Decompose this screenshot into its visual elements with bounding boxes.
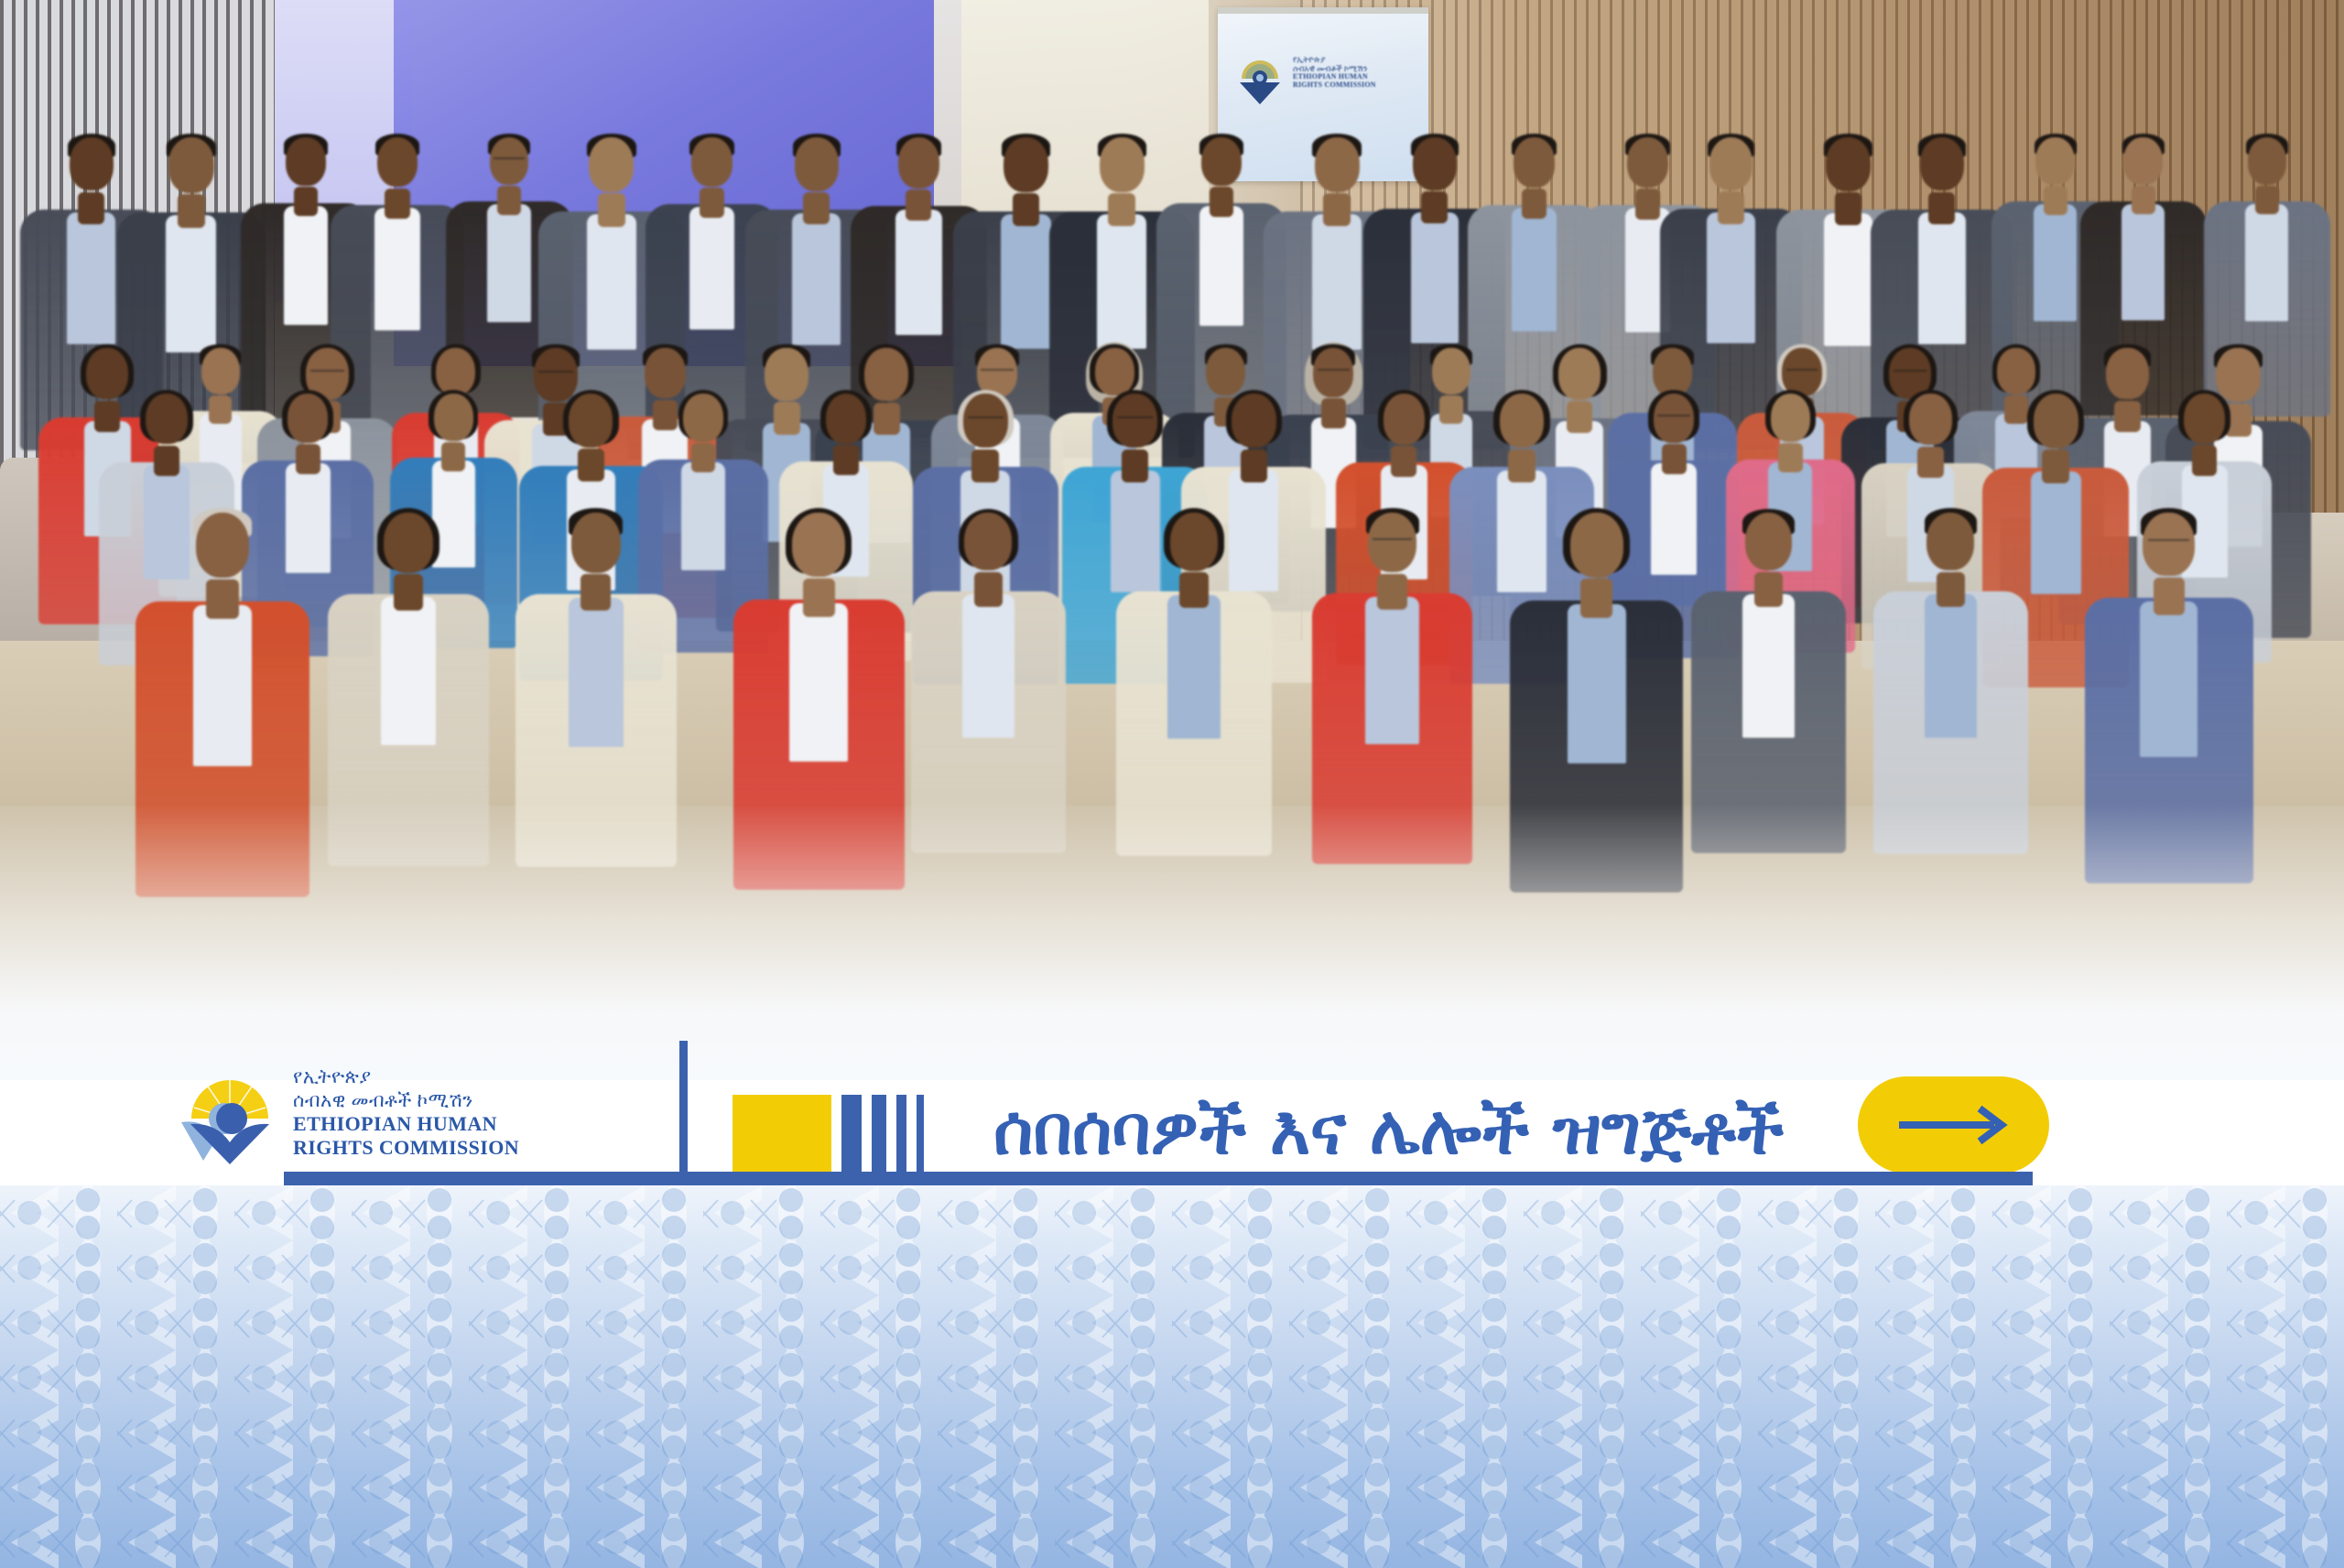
person-head (1201, 137, 1241, 186)
person-shirt (681, 462, 725, 571)
banner-title: ሰበሰባዎች እና ሌሎች ዝግጅቶች (993, 1080, 1799, 1181)
person-neck (1754, 572, 1784, 607)
person-shirt (1918, 212, 1967, 344)
person-neck (294, 187, 318, 216)
person-head (1826, 137, 1870, 191)
person-shirt (374, 208, 420, 331)
person-glasses (968, 416, 1004, 418)
person-neck (1210, 187, 1233, 216)
person-shirt (2034, 204, 2077, 321)
person-glasses (1117, 416, 1153, 418)
person-neck (1241, 449, 1268, 482)
logo-amharic-line-1: የኢትዮጵያ (293, 1065, 519, 1088)
person-neck (1917, 447, 1943, 478)
person-head (1745, 513, 1793, 570)
ehrc-sun-person-logo-icon (179, 1062, 280, 1164)
person-head (2123, 137, 2162, 185)
person-neck (1928, 192, 1955, 224)
person-head (1384, 394, 1426, 445)
person-head (288, 394, 328, 443)
yellow-block-mark (732, 1095, 831, 1172)
person-neck (1323, 193, 1351, 226)
person-neck (1508, 449, 1536, 482)
person-neck (2132, 186, 2155, 214)
person-shirt (166, 215, 216, 351)
person-head (1432, 348, 1470, 395)
person-neck (906, 189, 931, 221)
person-shirt (689, 207, 734, 330)
person-neck (1179, 572, 1209, 608)
person-shirt (1707, 212, 1755, 343)
person-head (2106, 348, 2148, 399)
blue-bar-mark-2 (872, 1095, 886, 1172)
person-neck (691, 443, 715, 472)
person-glasses (1318, 369, 1350, 371)
person-neck (803, 192, 830, 224)
person-neck (1377, 574, 1407, 611)
pattern-svg (0, 1185, 2344, 1568)
person-neck (497, 186, 521, 215)
person-head (683, 394, 722, 442)
person-shirt (962, 594, 1015, 737)
person-shirt (1167, 595, 1221, 739)
person-neck (394, 574, 424, 611)
person-shirt (1199, 206, 1243, 326)
person-head (792, 513, 844, 577)
person-glasses (1894, 370, 1927, 372)
person-neck (1835, 192, 1861, 225)
ehrc-logo-text: የኢትዮጵያ ሰብአዊ መብቶች ኮሚሽን ETHIOPIAN HUMAN RI… (293, 1065, 519, 1160)
person (1691, 513, 1846, 853)
person-head (1368, 513, 1416, 572)
person-shirt (792, 213, 841, 346)
photo-bottom-fade (0, 806, 2344, 1080)
person-shirt (789, 603, 848, 762)
person-head (1997, 348, 2035, 395)
logo-english-line-1: ETHIOPIAN HUMAN (293, 1112, 519, 1136)
person-shirt (2245, 204, 2288, 321)
logo-amharic-line-2: ሰብአዊ መብቶች ኮሚሽን (293, 1089, 519, 1112)
person-shirt (569, 598, 624, 747)
person-shirt (193, 605, 253, 766)
person-head (1771, 394, 1810, 442)
blue-bar-mark-3 (896, 1095, 906, 1172)
person-neck (1522, 189, 1546, 219)
person-neck (1580, 579, 1612, 618)
decorative-pattern-footer (0, 1185, 2344, 1568)
person-neck (178, 194, 205, 228)
person-head (1653, 348, 1692, 396)
person-shirt (1742, 594, 1796, 737)
person-head (2248, 137, 2286, 185)
decorative-marks (732, 1095, 924, 1172)
person-head (1909, 394, 1951, 445)
blue-bar-mark-4 (917, 1095, 924, 1172)
person-head (2143, 513, 2194, 576)
person-neck (1391, 446, 1416, 477)
person-head (1413, 137, 1457, 190)
person-head (196, 513, 249, 578)
person-shirt (284, 206, 328, 326)
person-head (2184, 394, 2225, 444)
person-head (645, 348, 686, 398)
person-head (1570, 513, 1623, 578)
person-shirt (1411, 212, 1460, 343)
person-head (963, 394, 1008, 448)
person-head (1654, 394, 1694, 443)
person-head (434, 394, 473, 441)
person-shirt (1097, 214, 1146, 349)
person-glasses (1373, 538, 1412, 540)
person-glasses (1657, 415, 1689, 416)
person (1116, 513, 1272, 856)
ehrc-logo-block: የኢትዮጵያ ሰብአዊ መብቶች ኮሚሽን ETHIOPIAN HUMAN RI… (179, 1062, 519, 1164)
person-neck (1662, 444, 1687, 474)
person-head (384, 513, 433, 573)
person-head (1313, 348, 1353, 397)
person-head (168, 137, 214, 193)
person-head (1100, 137, 1145, 192)
person-neck (1108, 193, 1135, 226)
person-neck (578, 449, 604, 481)
person-neck (2042, 449, 2069, 482)
person-head (1709, 137, 1753, 190)
person-neck (598, 193, 625, 226)
person-head (201, 348, 240, 395)
person-shirt (487, 204, 530, 322)
person (911, 513, 1066, 853)
person-head (1206, 348, 1245, 395)
person-neck (1122, 449, 1149, 482)
person-neck (1937, 572, 1966, 607)
person-neck (803, 579, 835, 617)
person-head (2035, 137, 2075, 185)
person-head (1095, 348, 1134, 395)
person-glasses (1786, 369, 1818, 371)
person-head (70, 137, 114, 190)
person-shirt (895, 210, 942, 336)
person-head (86, 348, 128, 399)
person-neck (581, 574, 611, 611)
person-neck (700, 188, 724, 218)
person-head (1500, 394, 1545, 448)
person-head (1315, 137, 1360, 192)
person-glasses (310, 370, 344, 372)
person-shirt (1925, 594, 1978, 738)
blue-bar-mark-1 (841, 1095, 862, 1172)
person-head (571, 513, 621, 573)
person-shirt (2031, 471, 2081, 595)
person-head (1170, 513, 1218, 571)
person-head (795, 137, 839, 191)
person-head (1514, 137, 1555, 188)
person-neck (1013, 193, 1040, 226)
person-neck (78, 192, 104, 224)
person-head (964, 513, 1012, 570)
person-shirt (1568, 604, 1626, 763)
person-shirt (1312, 214, 1362, 350)
person-glasses (538, 371, 573, 373)
person-neck (154, 446, 179, 477)
person (1873, 513, 2029, 854)
person-glasses (981, 369, 1013, 371)
person-head (569, 394, 613, 448)
arrow-right-button[interactable] (1858, 1076, 2049, 1173)
arrow-right-icon (1895, 1103, 2013, 1147)
person-neck (2255, 186, 2279, 214)
person-head (691, 137, 732, 187)
person-shirt (2122, 204, 2165, 321)
person-head (377, 137, 418, 187)
person-shirt (1824, 213, 1872, 346)
person-neck (1718, 191, 1744, 223)
person-glasses (494, 157, 525, 159)
person-shirt (1001, 214, 1050, 349)
person-head (146, 394, 187, 444)
group-photo: የኢትዮጵያ ሰብአዊ መብቶች ኮሚሽን ETHIOPIAN HUMAN RI… (0, 0, 2344, 1080)
person-head (589, 137, 634, 192)
person-shirt (381, 597, 436, 745)
person-shirt (2140, 601, 2197, 757)
person-head (1782, 348, 1821, 396)
person-neck (971, 449, 999, 482)
person-neck (385, 189, 409, 219)
person-head (436, 348, 475, 395)
person-head (1232, 394, 1276, 448)
person-neck (441, 442, 465, 470)
person-neck (974, 572, 1004, 607)
person-neck (1635, 189, 1660, 219)
person-shirt (67, 212, 115, 344)
person-neck (2044, 186, 2067, 214)
person-head (1920, 137, 1964, 190)
person-neck (1778, 443, 1802, 472)
person-head (1558, 348, 1601, 400)
person-shirt (1365, 597, 1419, 744)
person-head (1004, 137, 1048, 192)
person-head (2034, 394, 2078, 449)
person-neck (2192, 445, 2217, 475)
person-neck (1421, 191, 1448, 223)
person-glasses (2148, 539, 2189, 541)
person-neck (206, 579, 239, 619)
person-head (1926, 513, 1974, 570)
person-shirt (1512, 208, 1557, 331)
person-shirt (587, 214, 636, 350)
person-head (826, 394, 867, 444)
person-neck (2154, 578, 2185, 616)
person-neck (833, 445, 858, 475)
person-head (898, 137, 940, 189)
person-head (1112, 394, 1157, 448)
logo-english-line-2: RIGHTS COMMISSION (293, 1136, 519, 1160)
person-head (286, 137, 325, 186)
person-neck (296, 444, 320, 474)
person-head (490, 137, 529, 185)
